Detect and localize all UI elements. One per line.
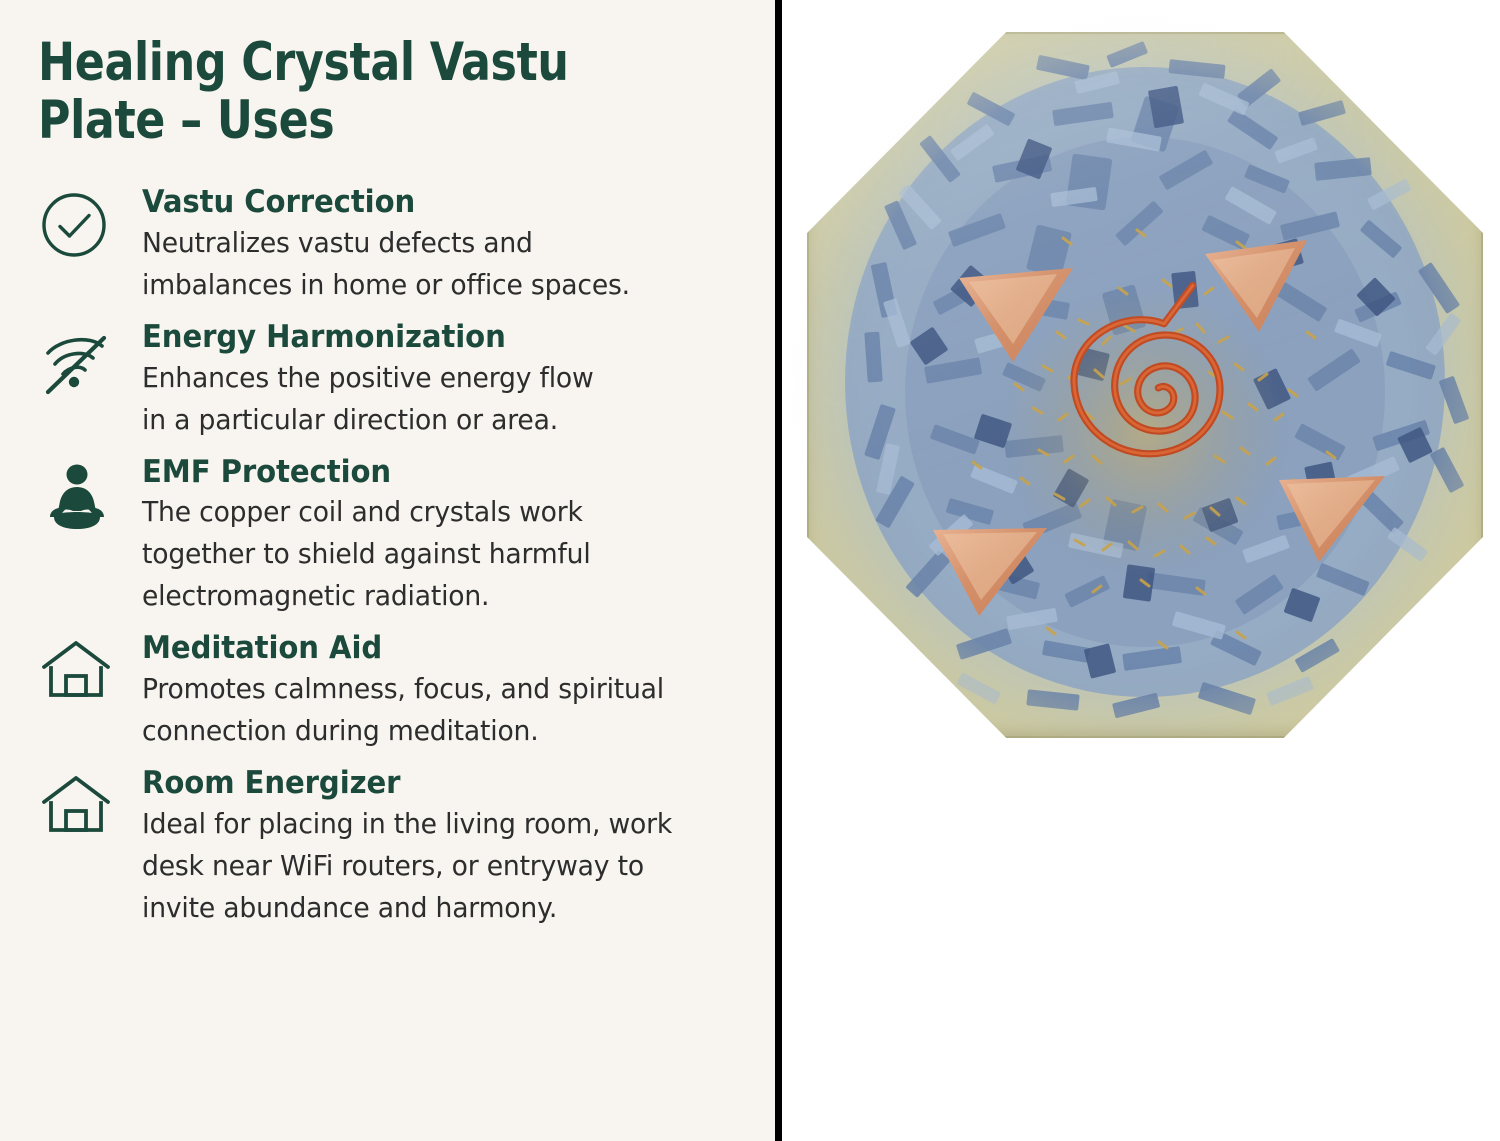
list-item-description: Promotes calmness, focus, and spiritual … (142, 668, 705, 752)
list-item: Room Energizer Ideal for placing in the … (38, 766, 735, 929)
orgonite-vastu-plate (807, 32, 1483, 738)
meditation-person-icon (38, 455, 142, 535)
list-item: Vastu Correction Neutralizes vastu defec… (38, 185, 735, 306)
list-item-title: Energy Harmonization (142, 320, 699, 356)
home-icon (38, 766, 142, 838)
list-item-text: Vastu Correction Neutralizes vastu defec… (142, 185, 735, 306)
list-item-description: Enhances the positive energy flow in a p… (142, 357, 705, 441)
list-item-text: Energy Harmonization Enhances the positi… (142, 320, 735, 441)
uses-list: Vastu Correction Neutralizes vastu defec… (38, 185, 735, 930)
list-item-text: Meditation Aid Promotes calmness, focus,… (142, 631, 735, 752)
list-item: EMF Protection The copper coil and cryst… (38, 455, 735, 618)
check-circle-icon (38, 185, 142, 259)
list-item-description: The copper coil and crystals work togeth… (142, 491, 705, 617)
uses-panel: Healing Crystal Vastu Plate – Uses Vastu… (0, 0, 775, 1141)
list-item: Meditation Aid Promotes calmness, focus,… (38, 631, 735, 752)
product-image-panel (775, 0, 1500, 1141)
list-item: Energy Harmonization Enhances the positi… (38, 320, 735, 441)
list-item-text: EMF Protection The copper coil and cryst… (142, 455, 735, 618)
list-item-description: Neutralizes vastu defects and imbalances… (142, 222, 705, 306)
wifi-off-icon (38, 320, 142, 398)
product-infographic: Healing Crystal Vastu Plate – Uses Vastu… (0, 0, 1500, 1141)
panel-divider (775, 0, 782, 1141)
list-item-title: EMF Protection (142, 455, 699, 491)
copper-spiral-coil (1030, 265, 1260, 505)
list-item-title: Vastu Correction (142, 185, 699, 221)
product-stage (775, 0, 1500, 1141)
list-item-title: Meditation Aid (142, 631, 699, 667)
list-item-text: Room Energizer Ideal for placing in the … (142, 766, 735, 929)
list-item-title: Room Energizer (142, 766, 699, 802)
page-title: Healing Crystal Vastu Plate – Uses (38, 34, 686, 151)
list-item-description: Ideal for placing in the living room, wo… (142, 803, 705, 929)
home-icon (38, 631, 142, 703)
